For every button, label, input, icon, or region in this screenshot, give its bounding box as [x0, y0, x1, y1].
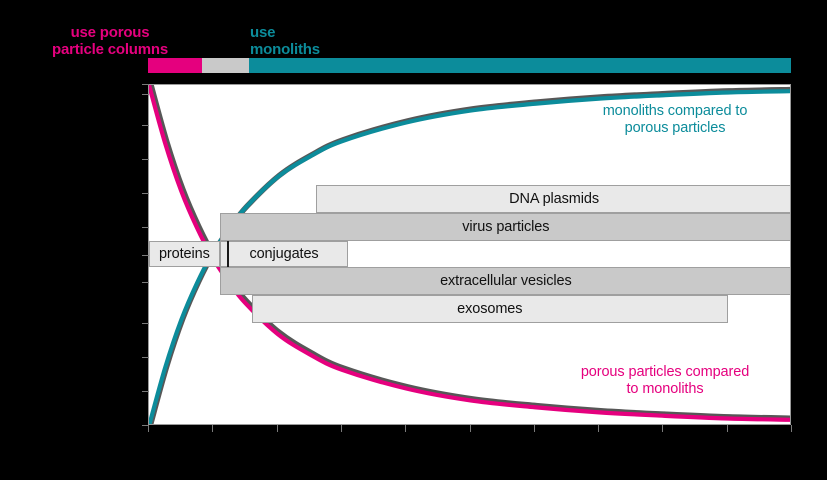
category-band-label: proteins	[159, 246, 210, 262]
annotation-monoliths-curve: monoliths compared to porous particles	[560, 103, 790, 137]
x-tick-10	[791, 425, 792, 432]
figure-root: use porous particle columns use monolith…	[0, 0, 827, 480]
category-band-virus-particles: virus particles	[220, 213, 791, 241]
header-label-porous-columns: use porous particle columns	[20, 24, 200, 58]
x-tick-1	[212, 425, 213, 432]
x-tick-5	[470, 425, 471, 432]
y-tick-4	[142, 282, 149, 283]
category-band-label: extracellular vesicles	[440, 273, 572, 289]
category-band-label: DNA plasmids	[509, 191, 599, 207]
y-tick-11	[142, 84, 149, 85]
scale-segment-porous	[148, 58, 202, 73]
y-tick-1	[142, 391, 149, 392]
category-band-exosomes: exosomes	[252, 295, 728, 323]
x-tick-4	[405, 425, 406, 432]
category-band-label: exosomes	[457, 301, 522, 317]
category-band-label: conjugates	[249, 246, 318, 262]
scale-segment-mixed	[202, 58, 249, 73]
y-tick-6	[142, 227, 149, 228]
header-label-monoliths: use monoliths	[250, 24, 370, 58]
y-tick-5	[142, 255, 149, 256]
crossover-divider	[227, 241, 229, 267]
x-tick-6	[534, 425, 535, 432]
annotation-porous-curve: porous particles compared to monoliths	[540, 364, 790, 398]
y-tick-8	[142, 159, 149, 160]
x-tick-0	[148, 425, 149, 432]
x-tick-8	[662, 425, 663, 432]
y-tick-7	[142, 193, 149, 194]
y-tick-2	[142, 357, 149, 358]
y-tick-3	[142, 323, 149, 324]
category-band-conjugates: conjugates	[220, 241, 349, 267]
category-band-label: virus particles	[462, 219, 549, 235]
x-tick-2	[277, 425, 278, 432]
y-tick-10	[142, 94, 149, 95]
x-tick-7	[598, 425, 599, 432]
method-scale-bar	[148, 58, 791, 73]
category-band-dna-plasmids: DNA plasmids	[316, 185, 791, 213]
category-band-extracellular-vesicles: extracellular vesicles	[220, 267, 791, 295]
x-tick-9	[727, 425, 728, 432]
x-tick-3	[341, 425, 342, 432]
category-band-proteins: proteins	[149, 241, 220, 267]
scale-segment-monolith	[249, 58, 791, 73]
y-tick-9	[142, 125, 149, 126]
